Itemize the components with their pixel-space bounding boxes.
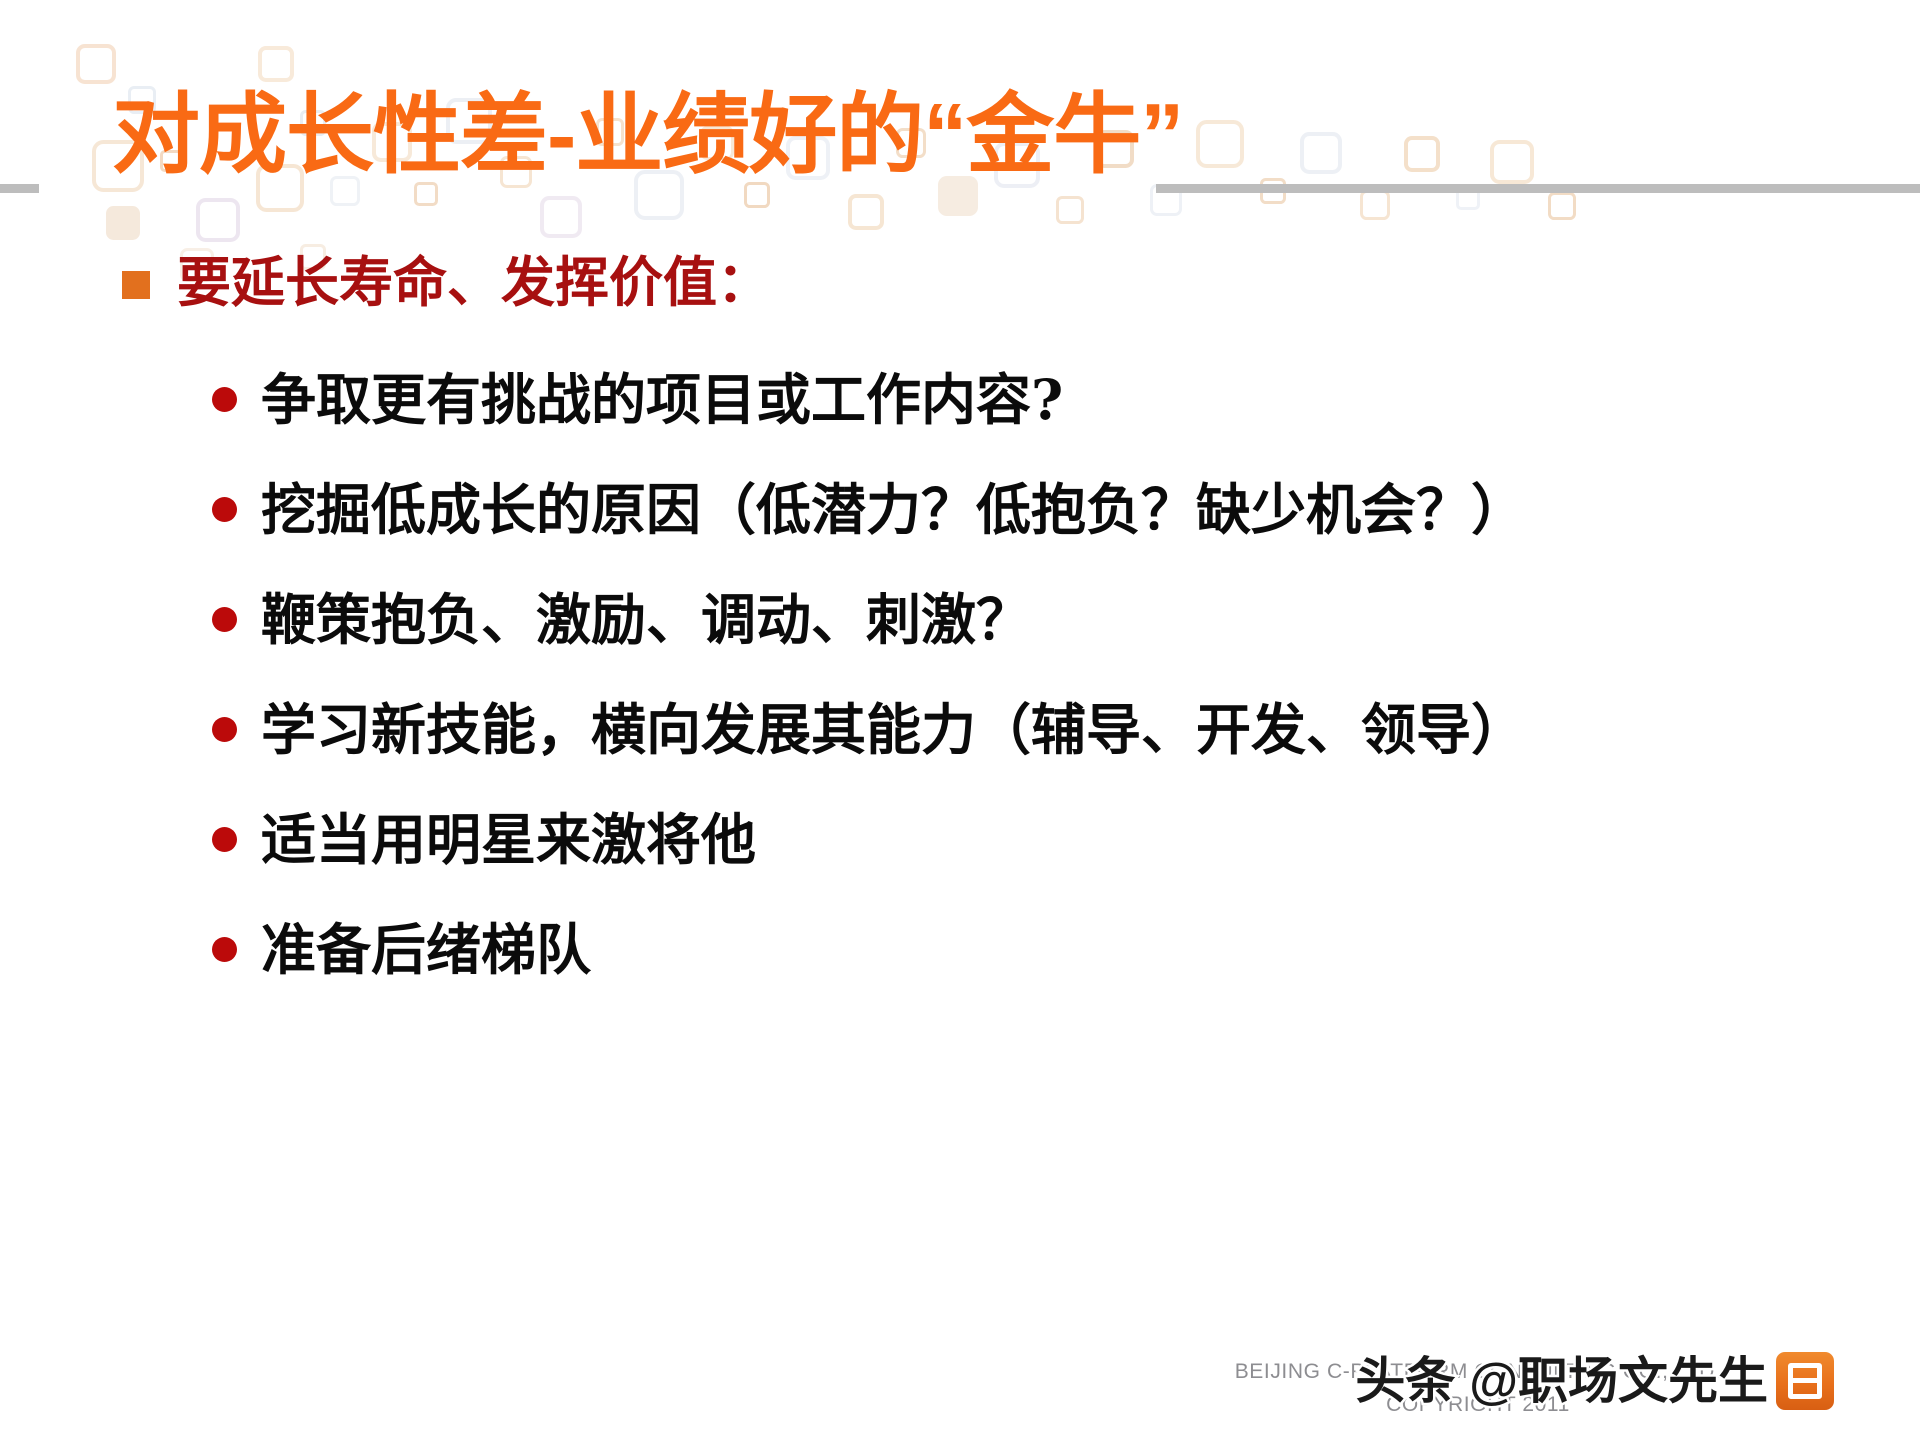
list-item-label: 鞭策抱负、激励、调动、刺激？ (261, 592, 1031, 647)
round-bullet-icon (212, 387, 237, 412)
list-item-label: 争取更有挑战的项目或工作内容? (261, 372, 1063, 427)
slide-canvas: 对成长性差-业绩好的“金牛” 要延长寿命、发挥价值： 争取更有挑战的项目或工作内… (0, 0, 1920, 1440)
footer-copyright: BEIJING C-PLATFORM CONSULTING CO., LTD. … (1128, 1356, 1828, 1421)
heading-bullet-row: 要延长寿命、发挥价值： (0, 252, 1920, 314)
bullet-list: 争取更有挑战的项目或工作内容? 挖掘低成长的原因（低潜力？低抱负？缺少机会？） … (0, 344, 1920, 1004)
list-item-label: 准备后绪梯队 (261, 922, 591, 977)
divider-left (0, 184, 39, 193)
slide-body: 要延长寿命、发挥价值： 争取更有挑战的项目或工作内容? 挖掘低成长的原因（低潜力… (0, 252, 1920, 1004)
round-bullet-icon (212, 937, 237, 962)
list-item: 准备后绪梯队 (0, 894, 1920, 1004)
list-item-label: 挖掘低成长的原因（低潜力？低抱负？缺少机会？） (261, 482, 1526, 537)
round-bullet-icon (212, 607, 237, 632)
square-bullet-icon (122, 271, 150, 299)
list-item: 争取更有挑战的项目或工作内容? (0, 344, 1920, 454)
list-item: 学习新技能，横向发展其能力（辅导、开发、领导） (0, 674, 1920, 784)
round-bullet-icon (212, 497, 237, 522)
list-item-label: 适当用明星来激将他 (261, 812, 756, 867)
footer-line-2: COPYRIGHT 2011 (1128, 1389, 1828, 1422)
round-bullet-icon (212, 827, 237, 852)
list-item: 适当用明星来激将他 (0, 784, 1920, 894)
slide-title: 对成长性差-业绩好的“金牛” (112, 89, 1183, 181)
round-bullet-icon (212, 717, 237, 742)
heading-text: 要延长寿命、发挥价值： (177, 252, 771, 314)
divider-right (1156, 184, 1920, 193)
list-item: 鞭策抱负、激励、调动、刺激？ (0, 564, 1920, 674)
list-item-label: 学习新技能，横向发展其能力（辅导、开发、领导） (261, 702, 1526, 757)
list-item: 挖掘低成长的原因（低潜力？低抱负？缺少机会？） (0, 454, 1920, 564)
footer-line-1: BEIJING C-PLATFORM CONSULTING CO., LTD. (1128, 1356, 1828, 1389)
